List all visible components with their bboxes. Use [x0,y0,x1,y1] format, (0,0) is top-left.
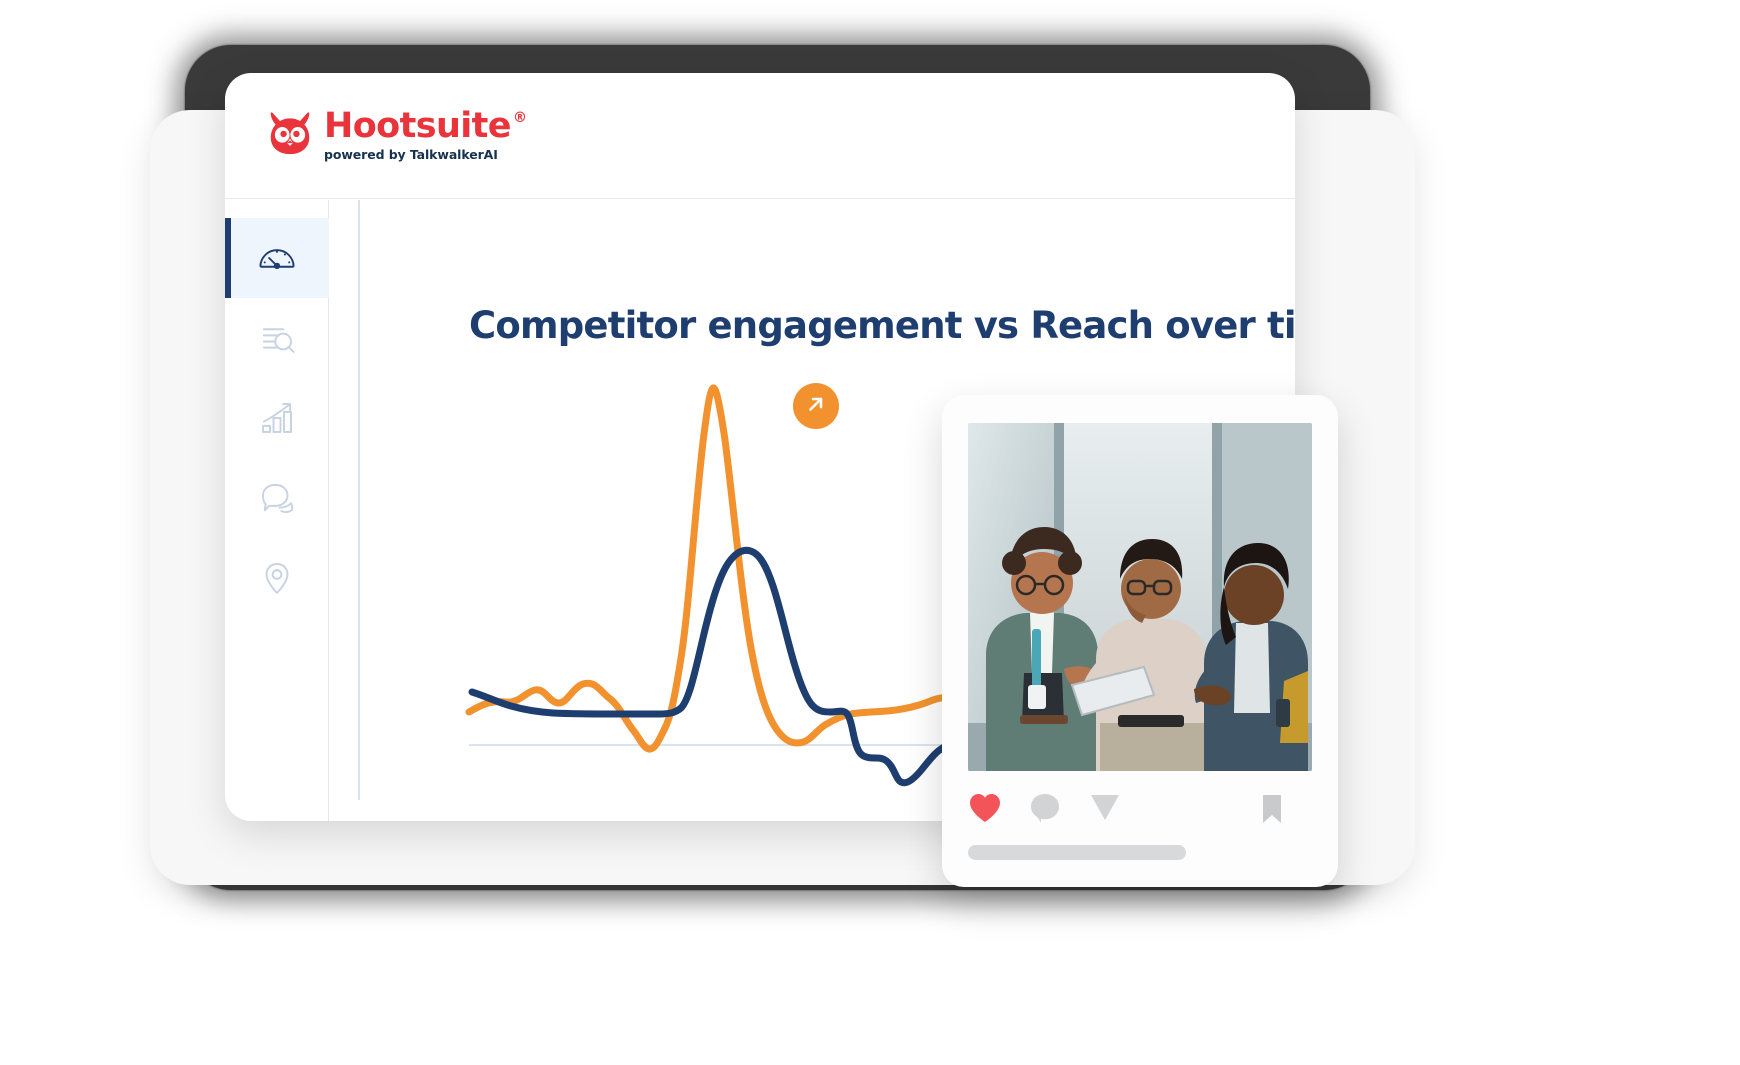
sidebar-item-locations[interactable] [225,538,329,618]
logo-wordmark: Hootsuite ® [324,109,526,144]
arrow-up-right-icon [804,392,828,421]
sidebar-item-dashboard[interactable] [225,218,329,298]
logo-tagline: powered by TalkwalkerAI [324,147,526,162]
app-header: Hootsuite ® powered by TalkwalkerAI [225,73,1295,199]
sidebar-item-conversations[interactable] [225,458,329,538]
post-photo-illustration [968,423,1312,771]
post-caption-placeholder [968,845,1186,860]
sidebar-item-search[interactable] [225,298,329,378]
screenshot-stage: Hootsuite ® powered by TalkwalkerAI [0,0,1740,1065]
logo-wordmark-text: Hootsuite [324,109,511,144]
logo-text-block: Hootsuite ® powered by TalkwalkerAI [324,109,526,162]
send-triangle-icon[interactable] [1088,792,1122,829]
social-post-card [942,395,1338,887]
sidebar-item-analytics[interactable] [225,378,329,458]
list-search-icon [256,317,298,359]
post-action-bar [968,793,1312,827]
sidebar-nav [225,200,329,821]
gauge-icon [256,237,298,279]
hootsuite-logo[interactable]: Hootsuite ® powered by TalkwalkerAI [267,109,526,162]
owl-logo-icon [267,111,313,155]
map-pin-icon [256,557,298,599]
logo-registered-mark: ® [513,111,526,125]
bookmark-icon[interactable] [1260,793,1284,830]
heart-icon[interactable] [968,792,1002,829]
peak-annotation-badge[interactable] [793,383,839,429]
speech-bubbles-icon [256,477,298,519]
post-image [968,423,1312,771]
comment-bubble-icon[interactable] [1028,792,1062,829]
bar-chart-trend-icon [256,397,298,439]
